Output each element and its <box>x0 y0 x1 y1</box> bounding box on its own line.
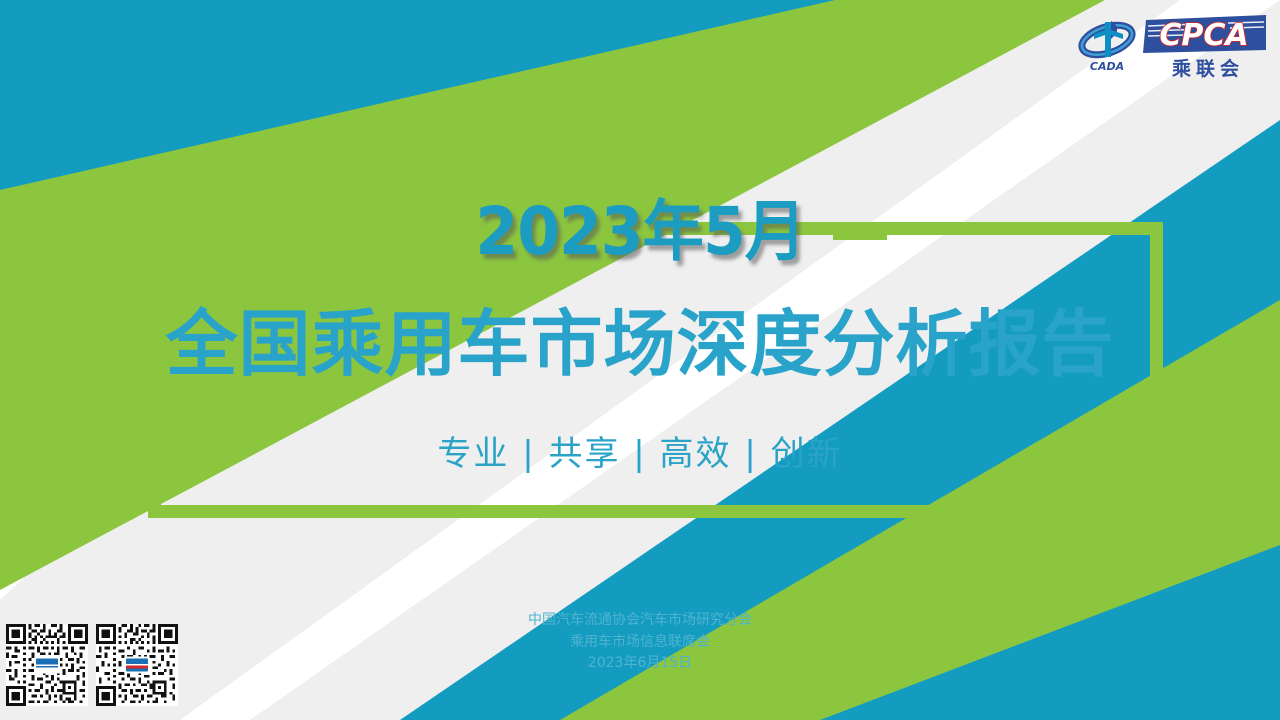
qr-code-group <box>6 624 178 706</box>
tagline: 专业 | 共享 | 高效 | 创新 <box>0 432 1280 476</box>
footer-line-date: 2023年6月15日 <box>0 653 1280 675</box>
cada-swoosh-icon: CADA <box>1078 20 1135 73</box>
qr-code-left[interactable] <box>6 624 88 706</box>
cpca-chinese-text: 乘联会 <box>1171 57 1244 80</box>
period-title: 2023年5月 <box>475 199 805 265</box>
cpca-latin-text: CPCA <box>1159 18 1248 53</box>
qr-code-left-center-logo <box>34 657 60 674</box>
slide-root: CADA CPCA 乘联会 2023年5月 <box>0 0 1280 720</box>
cada-wordmark: CADA <box>1090 60 1124 73</box>
cpca-wordmark-plate: CPCA <box>1143 15 1266 53</box>
report-title: 全国乘用车市场深度分析报告 <box>0 308 1280 380</box>
teal-stripe-top-left <box>0 0 835 190</box>
footer-line-organization: 中国汽车流通协会汽车市场研究分会 <box>0 610 1280 632</box>
title-dash-right <box>833 225 887 240</box>
qr-code-right-center-logo <box>124 657 150 674</box>
title-dash-left <box>393 225 447 240</box>
footer-block: 中国汽车流通协会汽车市场研究分会 乘用车市场信息联席会 2023年6月15日 <box>0 610 1280 675</box>
footer-line-committee: 乘用车市场信息联席会 <box>0 632 1280 654</box>
qr-code-right[interactable] <box>96 624 178 706</box>
title-row: 2023年5月 <box>0 186 1280 278</box>
cpca-logo: CADA CPCA 乘联会 <box>1078 12 1266 80</box>
